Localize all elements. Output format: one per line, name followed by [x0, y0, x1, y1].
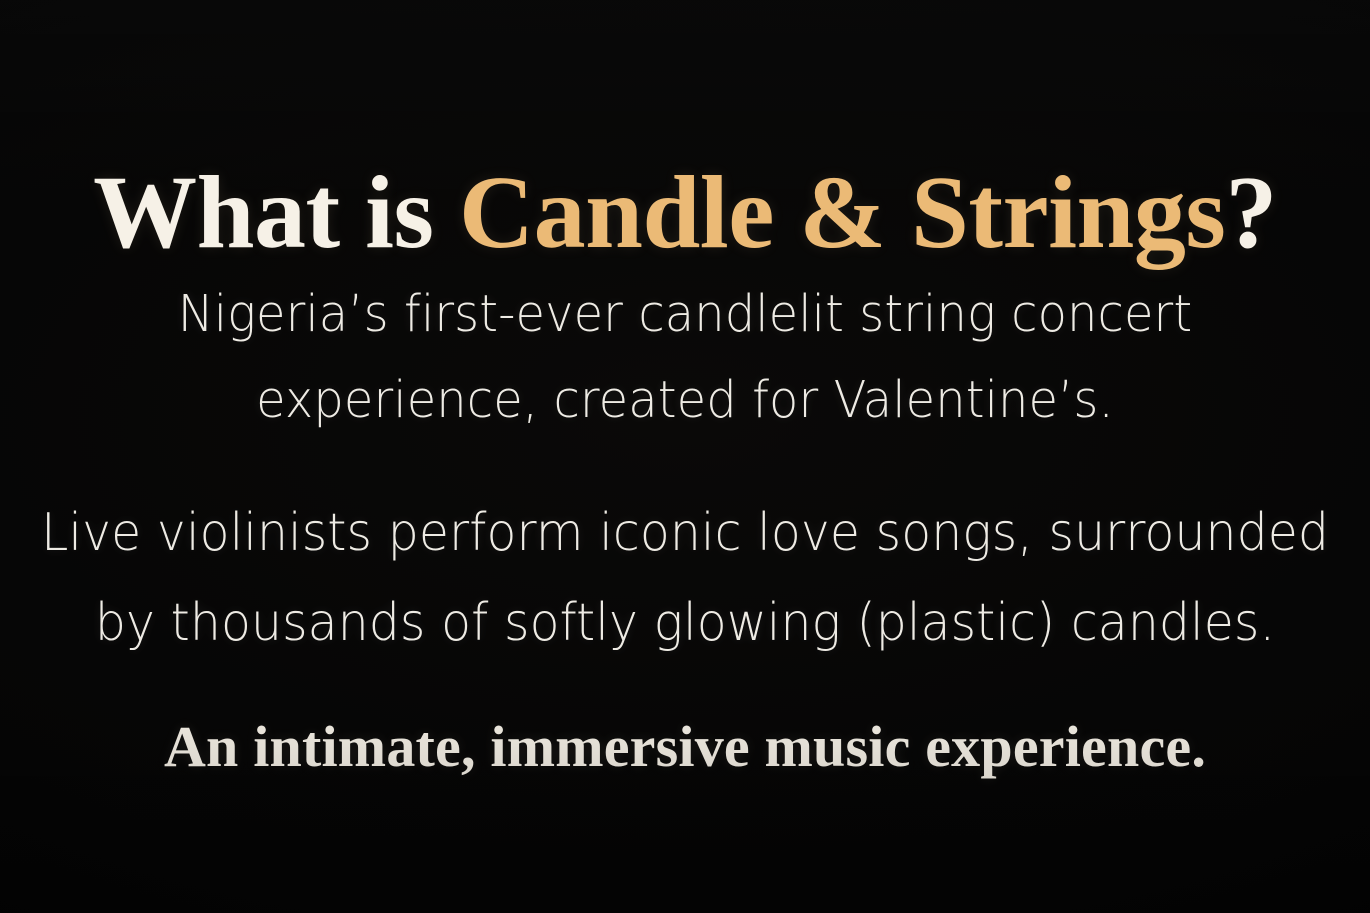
page-title-prefix: What is: [93, 155, 459, 270]
closing-tagline: An intimate, immersive music experience.: [0, 714, 1370, 781]
description-paragraph-one: Nigeria’s first-ever candlelit string co…: [41, 272, 1329, 444]
paragraph-one-line-one: Nigeria’s first-ever candlelit string co…: [41, 272, 1329, 358]
paragraph-one-line-two: experience, created for Valentine’s.: [41, 358, 1329, 444]
page-title-question-mark: ?: [1225, 155, 1277, 270]
page-title-brand: Candle & Strings: [459, 155, 1225, 270]
description-paragraph-two: Live violinists perform iconic love song…: [41, 488, 1329, 668]
presentation-slide: What is Candle & Strings? Nigeria’s firs…: [0, 0, 1370, 913]
page-title: What is Candle & Strings?: [0, 158, 1370, 267]
paragraph-two-line-two: by thousands of softly glowing (plastic)…: [41, 578, 1329, 668]
paragraph-two-line-one: Live violinists perform iconic love song…: [41, 488, 1329, 578]
